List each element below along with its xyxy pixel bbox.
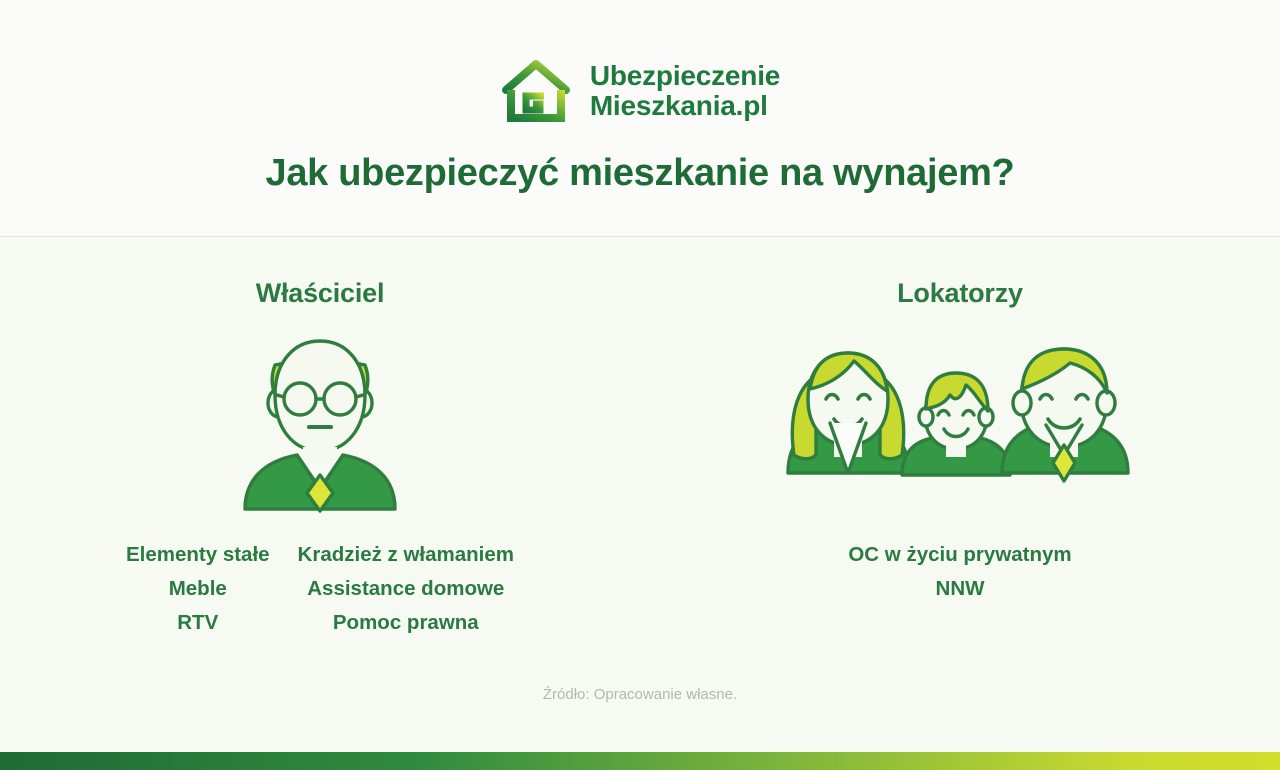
source-note: Źródło: Opracowanie własne. [0, 686, 1280, 703]
page-title: Jak ubezpieczyć mieszkanie na wynajem? [0, 152, 1280, 195]
list-owner-risks: Kradzież z włamaniem Assistance domowe P… [298, 538, 514, 640]
lists-tenants: OC w życiu prywatnym NNW [640, 538, 1280, 606]
list-item: RTV [126, 606, 270, 640]
list-item: NNW [848, 572, 1071, 606]
list-item: Assistance domowe [298, 572, 514, 606]
brand-name-line-1: Ubezpieczenie [590, 61, 780, 91]
list-item: Meble [126, 572, 270, 606]
header: Ubezpieczenie Mieszkania.pl Jak ubezpiec… [0, 0, 1280, 237]
column-tenants: Lokatorzy [640, 238, 1280, 668]
brand-name: Ubezpieczenie Mieszkania.pl [590, 61, 780, 121]
bottom-accent-bar [0, 752, 1280, 770]
lists-owner: Elementy stałe Meble RTV Kradzież z włam… [0, 538, 640, 640]
brand-name-line-2: Mieszkania.pl [590, 91, 780, 121]
list-tenant-coverage: OC w życiu prywatnym NNW [848, 538, 1071, 606]
figure-owner [0, 323, 640, 518]
elderly-man-with-glasses-avatar-icon [235, 323, 405, 518]
family-of-three-avatar-icon [770, 323, 1150, 518]
column-owner: Właściciel [0, 238, 640, 668]
columns-container: Właściciel [0, 238, 1280, 668]
figure-tenants [640, 323, 1280, 518]
list-owner-property: Elementy stałe Meble RTV [126, 538, 270, 640]
list-item: Elementy stałe [126, 538, 270, 572]
infographic-root: Ubezpieczenie Mieszkania.pl Jak ubezpiec… [0, 0, 1280, 770]
brand-logo[interactable]: Ubezpieczenie Mieszkania.pl [0, 60, 1280, 122]
list-item: Kradzież z włamaniem [298, 538, 514, 572]
column-heading-owner: Właściciel [0, 278, 640, 309]
body-area: Właściciel [0, 238, 1280, 752]
house-g-logo-icon [500, 60, 572, 122]
list-item: Pomoc prawna [298, 606, 514, 640]
column-heading-tenants: Lokatorzy [640, 278, 1280, 309]
list-item: OC w życiu prywatnym [848, 538, 1071, 572]
